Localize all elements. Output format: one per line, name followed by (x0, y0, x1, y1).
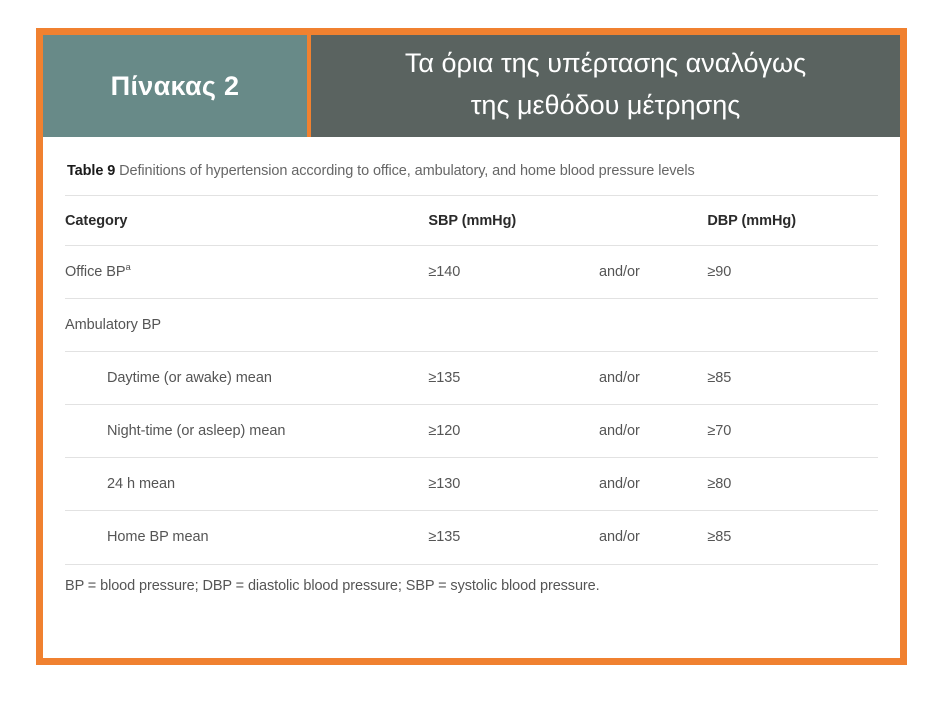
table-row: 24 h mean≥130and/or≥80 (65, 458, 878, 511)
table-row: Night-time (or asleep) mean≥120and/or≥70 (65, 405, 878, 458)
cell-join-operator: and/or (599, 246, 707, 299)
table-title-line-2: της μεθόδου μέτρησης (471, 84, 740, 126)
table-row: Home BP mean≥135and/or≥85 (65, 511, 878, 564)
table-caption: Table 9 Definitions of hypertension acco… (65, 163, 878, 195)
table-caption-text: Definitions of hypertension according to… (119, 163, 695, 179)
category-label: Home BP mean (107, 529, 209, 545)
category-label: Daytime (or awake) mean (107, 370, 272, 386)
cell-dbp-value: ≥90 (707, 246, 878, 299)
table-header-row: Category SBP (mmHg) DBP (mmHg) (65, 196, 878, 246)
table-number-block: Πίνακας 2 (43, 35, 311, 137)
table-card-frame: Πίνακας 2 Τα όρια της υπέρτασης αναλόγως… (36, 28, 907, 665)
table-title-line-1: Τα όρια της υπέρτασης αναλόγως (405, 42, 806, 84)
cell-dbp-value: ≥70 (707, 405, 878, 458)
cell-category: Night-time (or asleep) mean (65, 405, 428, 458)
cell-join-operator: and/or (599, 458, 707, 511)
cell-category: Ambulatory BP (65, 299, 428, 352)
column-header-sbp: SBP (mmHg) (428, 196, 599, 246)
cell-sbp-value: ≥140 (428, 246, 599, 299)
cell-dbp-value: ≥85 (707, 352, 878, 405)
cell-category: Daytime (or awake) mean (65, 352, 428, 405)
cell-category: Office BPa (65, 246, 428, 299)
table-row: Daytime (or awake) mean≥135and/or≥85 (65, 352, 878, 405)
table-footnote: BP = blood pressure; DBP = diastolic blo… (65, 564, 878, 594)
column-header-join (599, 196, 707, 246)
cell-dbp-value (707, 299, 878, 352)
column-header-category: Category (65, 196, 428, 246)
category-label: Office BP (65, 264, 126, 280)
table-row: Ambulatory BP (65, 299, 878, 352)
cell-dbp-value: ≥80 (707, 458, 878, 511)
table-body-area: Table 9 Definitions of hypertension acco… (43, 137, 900, 658)
cell-join-operator: and/or (599, 352, 707, 405)
cell-sbp-value: ≥130 (428, 458, 599, 511)
category-label: Ambulatory BP (65, 317, 161, 333)
cell-join-operator: and/or (599, 405, 707, 458)
table-body: Office BPa≥140and/or≥90Ambulatory BPDayt… (65, 246, 878, 564)
category-label: Night-time (or asleep) mean (107, 423, 285, 439)
cell-sbp-value: ≥135 (428, 352, 599, 405)
table-caption-label: Table 9 (67, 163, 115, 179)
cell-join-operator: and/or (599, 511, 707, 564)
blood-pressure-definitions-table: Category SBP (mmHg) DBP (mmHg) Office BP… (65, 195, 878, 564)
header-band: Πίνακας 2 Τα όρια της υπέρτασης αναλόγως… (43, 35, 900, 137)
category-label: 24 h mean (107, 476, 175, 492)
cell-sbp-value (428, 299, 599, 352)
cell-dbp-value: ≥85 (707, 511, 878, 564)
cell-sbp-value: ≥120 (428, 405, 599, 458)
cell-category: 24 h mean (65, 458, 428, 511)
cell-category: Home BP mean (65, 511, 428, 564)
table-title-block: Τα όρια της υπέρτασης αναλόγως της μεθόδ… (311, 35, 900, 137)
table-number-label: Πίνακας 2 (111, 71, 240, 102)
cell-sbp-value: ≥135 (428, 511, 599, 564)
table-row: Office BPa≥140and/or≥90 (65, 246, 878, 299)
cell-join-operator (599, 299, 707, 352)
table-header-row-group: Category SBP (mmHg) DBP (mmHg) (65, 196, 878, 246)
column-header-dbp: DBP (mmHg) (707, 196, 878, 246)
footnote-marker: a (126, 262, 131, 273)
slide-canvas: Πίνακας 2 Τα όρια της υπέρτασης αναλόγως… (0, 0, 952, 709)
